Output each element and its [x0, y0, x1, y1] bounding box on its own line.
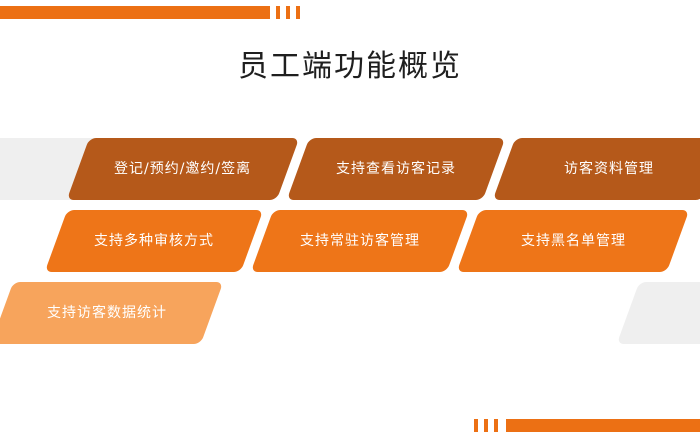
bottom-accent-tick [484, 419, 488, 432]
feature-card[interactable]: 登记/预约/邀约/签离 [67, 138, 300, 200]
feature-row: 支持访客数据统计 [0, 282, 700, 344]
bottom-accent-tick [474, 419, 478, 432]
feature-card-label: 支持多种审核方式 [94, 232, 214, 250]
feature-card[interactable]: 访客资料管理 [493, 138, 700, 200]
feature-card-label: 支持黑名单管理 [521, 232, 626, 250]
feature-grid: 登记/预约/邀约/签离 支持查看访客记录 访客资料管理 支持多种审核方式 支持常… [0, 0, 700, 438]
feature-card-label: 访客资料管理 [564, 160, 654, 178]
bottom-accent-bar [506, 419, 700, 432]
feature-card-label: 支持常驻访客管理 [300, 232, 420, 250]
bottom-accent-ticks [474, 419, 498, 432]
feature-card-label: 支持访客数据统计 [47, 304, 167, 322]
feature-card-label: 支持查看访客记录 [336, 160, 456, 178]
feature-card[interactable]: 支持查看访客记录 [287, 138, 506, 200]
bottom-accent-tick [494, 419, 498, 432]
feature-card[interactable]: 支持常驻访客管理 [251, 210, 470, 272]
feature-card[interactable]: 支持访客数据统计 [0, 282, 223, 344]
feature-card[interactable]: 支持多种审核方式 [45, 210, 264, 272]
slide-canvas: 员工端功能概览 登记/预约/邀约/签离 支持查看访客记录 访客资料管理 支持多种… [0, 0, 700, 438]
ghost-shape-right [617, 282, 700, 344]
feature-row: 支持多种审核方式 支持常驻访客管理 支持黑名单管理 [0, 210, 700, 272]
feature-row: 登记/预约/邀约/签离 支持查看访客记录 访客资料管理 [0, 138, 700, 200]
feature-card[interactable]: 支持黑名单管理 [457, 210, 690, 272]
feature-card-label: 登记/预约/邀约/签离 [114, 160, 251, 178]
